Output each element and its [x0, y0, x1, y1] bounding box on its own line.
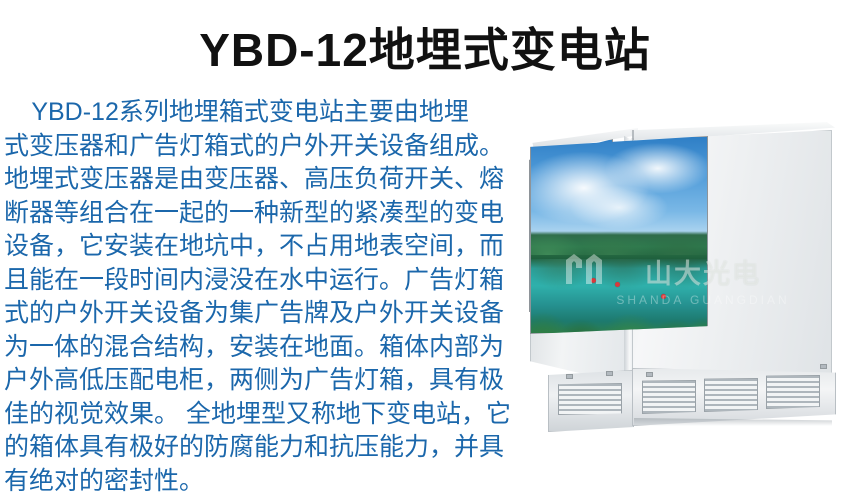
description-line: 式变压器和广告灯箱式的户外开关设备组成。	[4, 130, 516, 164]
description-line: 的箱体具有极好的防腐能力和抗压能力，并具	[4, 431, 516, 465]
page-title: YBD-12地埋式变电站	[0, 22, 850, 78]
description-line: YBD-12系列地埋箱式变电站主要由地埋	[4, 96, 516, 130]
description-line: 佳的视觉效果。 全地埋型又称地下变电站，它	[4, 398, 516, 432]
ventilation-louver	[558, 383, 622, 415]
description-line: 断器等组合在一起的一种新型的紧凑型的变电	[4, 197, 516, 231]
buoy-marker	[591, 278, 596, 283]
substation-cabinet: 山大光电 SHANDA GUANGDIAN	[520, 112, 845, 422]
fastener-icon	[646, 372, 653, 377]
ventilation-louver	[642, 380, 696, 414]
cabinet-base-shadow	[634, 418, 832, 426]
description-line: 为一体的混合结构，安装在地面。箱体内部为	[4, 331, 516, 365]
mountain-ridge	[530, 223, 708, 254]
description-line: 户外高低压配电柜，两侧为广告灯箱，具有极	[4, 364, 516, 398]
description-line: 有绝对的密封性。	[4, 465, 516, 499]
product-description: YBD-12系列地埋箱式变电站主要由地埋 式变压器和广告灯箱式的户外开关设备组成…	[4, 96, 516, 498]
description-line: 设备，它安装在地坑中，不占用地表空间，而	[4, 230, 516, 264]
ventilation-louver	[766, 375, 820, 409]
product-photo: 山大光电 SHANDA GUANGDIAN	[520, 112, 845, 422]
page-root: YBD-12地埋式变电站 YBD-12系列地埋箱式变电站主要由地埋 式变压器和广…	[0, 0, 850, 503]
description-line: 地埋式变压器是由变压器、高压负荷开关、熔	[4, 163, 516, 197]
description-line: 式的户外开关设备为集广告牌及户外开关设备	[4, 297, 516, 331]
fastener-icon	[606, 371, 613, 376]
description-line: 且能在一段时间内浸没在水中运行。广告灯箱	[4, 264, 516, 298]
ventilation-louver	[704, 378, 758, 412]
landscape-artwork-right	[531, 137, 707, 333]
lightbox-panel-right	[530, 136, 708, 334]
fastener-icon	[566, 374, 573, 379]
fastener-icon	[820, 364, 827, 369]
